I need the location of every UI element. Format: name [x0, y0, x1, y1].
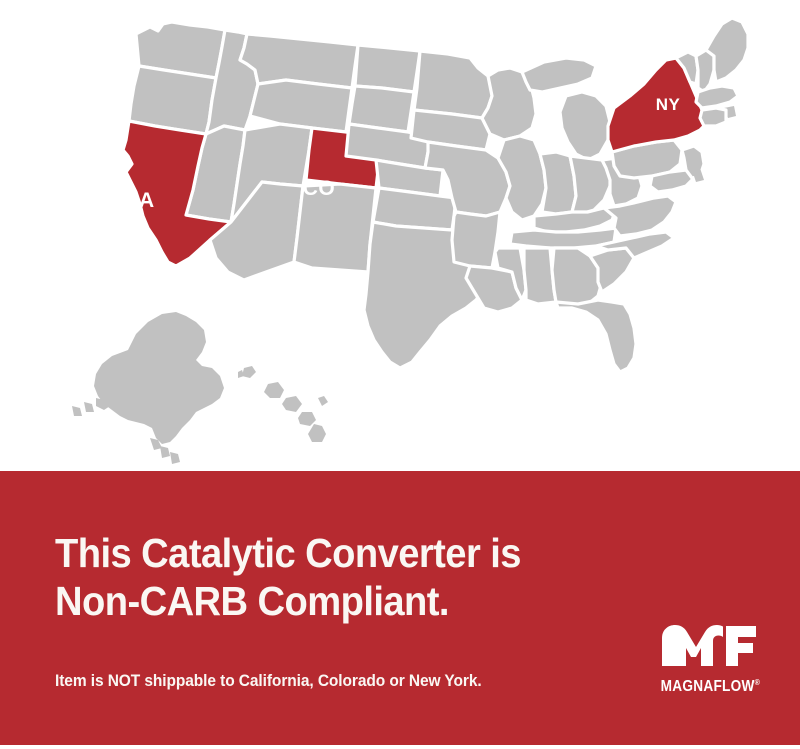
registered-mark: ® [755, 678, 760, 687]
state-minnesota [414, 51, 496, 118]
headline-line-2: Non-CARB Compliant. [55, 577, 650, 625]
state-montana [240, 34, 358, 88]
state-connecticut [700, 108, 726, 126]
state-michigan-upper [522, 58, 596, 92]
magnaflow-wordmark: MAGNAFLOW® [661, 678, 758, 696]
magnaflow-logo: MAGNAFLOW® [654, 624, 764, 698]
state-massachusetts [696, 86, 738, 108]
state-wyoming [250, 80, 352, 132]
state-north-dakota [355, 45, 420, 92]
state-hawaii [238, 366, 328, 442]
us-map-svg: CA CO NY [0, 0, 800, 471]
state-alaska [72, 312, 224, 464]
notice-banner: This Catalytic Converter is Non-CARB Com… [0, 471, 800, 745]
banner-content: This Catalytic Converter is Non-CARB Com… [55, 471, 800, 745]
wordmark-text: MAGNAFLOW [661, 678, 755, 695]
bottom-white-strip [0, 745, 800, 749]
state-florida [556, 300, 636, 372]
headline-line-1: This Catalytic Converter is [55, 529, 650, 577]
state-arkansas [452, 212, 500, 268]
headline: This Catalytic Converter is Non-CARB Com… [55, 529, 650, 625]
state-new-hampshire [696, 50, 714, 92]
state-michigan-lower [560, 92, 610, 160]
shipping-restriction-text: Item is NOT shippable to California, Col… [55, 672, 482, 691]
state-label-ny: NY [656, 95, 681, 114]
state-label-co: CO [303, 177, 336, 200]
magnaflow-monogram-icon [660, 624, 758, 668]
state-label-ca: CA [123, 189, 154, 212]
us-map-region: CA CO NY [0, 0, 800, 471]
